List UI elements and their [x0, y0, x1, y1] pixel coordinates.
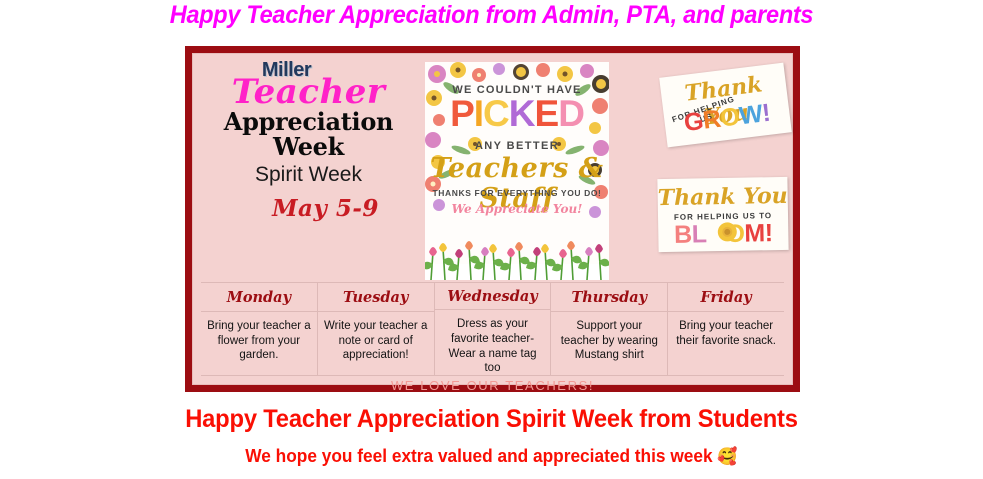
- smiling-face-with-hearts-icon: 🥰: [717, 447, 737, 467]
- teacher-appreciation-flyer: Miller Teacher Appreciation Week Spirit …: [185, 46, 800, 392]
- title-script-teacher: Teacher: [201, 76, 416, 108]
- thank-you-grow-tag: Thank You FOR HELPING US GROW!: [659, 63, 792, 148]
- table-column-wednesday: Wednesday Dress as your favorite teacher…: [435, 283, 552, 376]
- title-week: Week: [201, 135, 416, 159]
- bottom-heading: Happy Teacher Appreciation Spirit Week f…: [25, 405, 959, 434]
- poster-line-2: ANY BETTER: [425, 140, 609, 152]
- day-header-monday: Monday: [201, 283, 317, 312]
- flyer-footer-band: WE LOVE OUR TEACHERS!: [201, 375, 784, 395]
- tulip-garden-icon: [425, 234, 609, 280]
- bloom-tag-thank-you: Thank You: [657, 183, 787, 211]
- table-column-thursday: Thursday Support your teacher by wearing…: [551, 283, 668, 376]
- table-column-friday: Friday Bring your teacher their favorite…: [668, 283, 784, 376]
- bottom-subheading-text: We hope you feel extra valued and apprec…: [245, 446, 712, 466]
- day-activity-friday: Bring your teacher their favorite snack.: [668, 312, 784, 376]
- flyer-page: Happy Teacher Appreciation from Admin, P…: [0, 0, 983, 479]
- bottom-subheading: We hope you feel extra valued and apprec…: [20, 446, 964, 467]
- day-header-tuesday: Tuesday: [318, 283, 434, 312]
- day-activity-tuesday: Write your teacher a note or card of app…: [318, 312, 434, 376]
- day-header-wednesday: Wednesday: [435, 283, 551, 310]
- poster-thanks-line: THANKS FOR EVERYTHING YOU DO!: [425, 188, 609, 198]
- day-header-friday: Friday: [668, 283, 784, 312]
- thank-you-bloom-tag: Thank You FOR HELPING US TO BLOOM!: [657, 177, 788, 252]
- flyer-title-block: Miller Teacher Appreciation Week Spirit …: [201, 60, 416, 275]
- day-activity-wednesday: Dress as your favorite teacher- Wear a n…: [435, 310, 551, 376]
- spirit-week-table: Monday Bring your teacher a flower from …: [201, 282, 784, 376]
- sunflower-icon: [717, 222, 737, 242]
- day-activity-thursday: Support your teacher by wearing Mustang …: [551, 312, 667, 376]
- title-spirit-week: Spirit Week: [201, 162, 416, 187]
- day-header-thursday: Thursday: [551, 283, 667, 312]
- poster-headline-picked: PICKED: [425, 95, 609, 132]
- table-column-monday: Monday Bring your teacher a flower from …: [201, 283, 318, 376]
- table-column-tuesday: Tuesday Write your teacher a note or car…: [318, 283, 435, 376]
- poster-appreciate-line: We Appreciate You!: [425, 202, 609, 216]
- floral-poster: WE COULDN'T HAVE PICKED ANY BETTER Teach…: [425, 62, 609, 280]
- flyer-inner-frame: Miller Teacher Appreciation Week Spirit …: [192, 53, 793, 385]
- day-activity-monday: Bring your teacher a flower from your ga…: [201, 312, 317, 376]
- title-dates: May 5-9: [235, 195, 416, 222]
- top-heading: Happy Teacher Appreciation from Admin, P…: [29, 1, 953, 30]
